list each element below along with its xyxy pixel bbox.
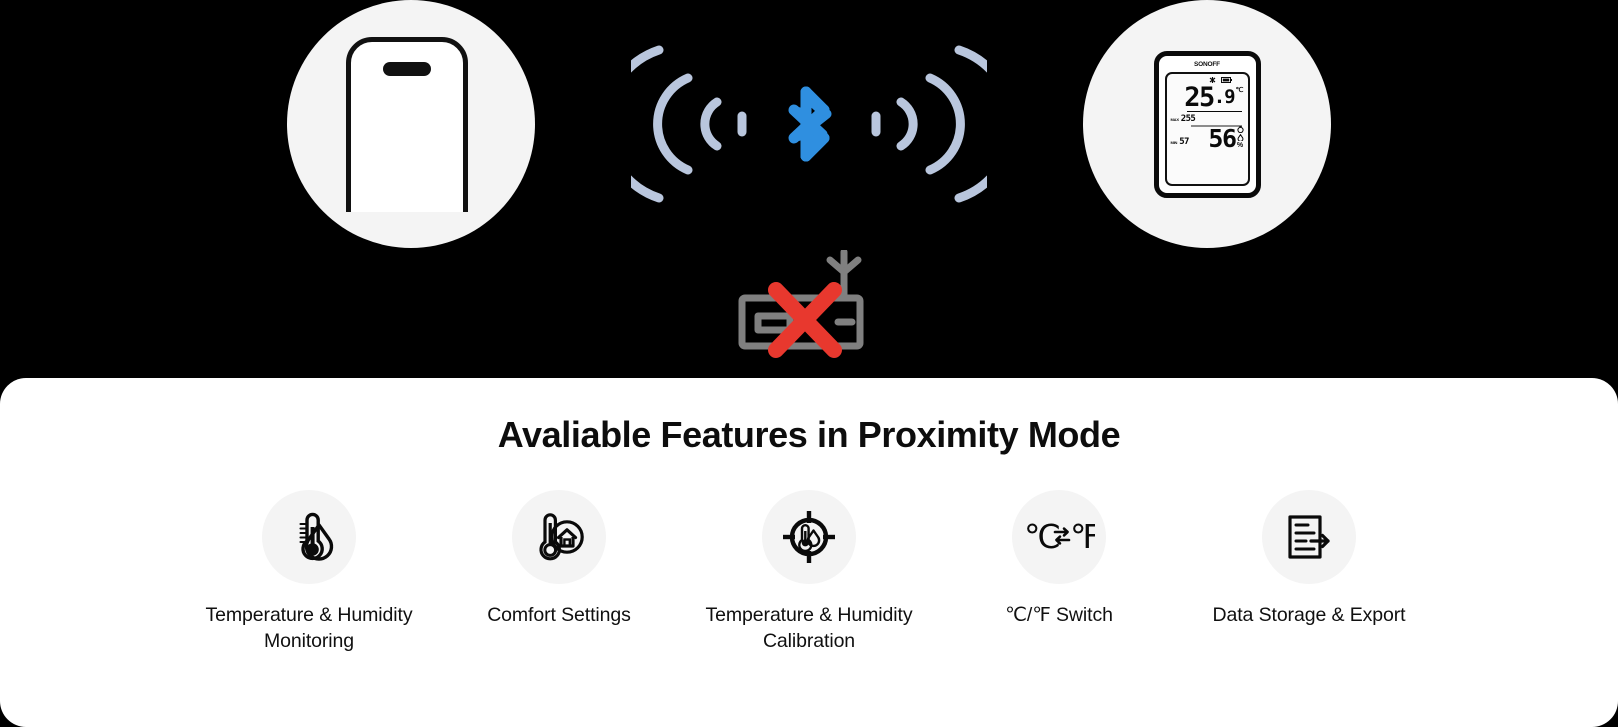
lcd-min-row: MIN 57 bbox=[1171, 136, 1189, 147]
bluetooth-icon bbox=[778, 76, 840, 172]
smartphone-icon bbox=[346, 37, 476, 212]
celsius-fahrenheit-switch-icon: ℃ ℉ bbox=[1012, 490, 1106, 584]
device-plate: SONOFF bbox=[1083, 0, 1331, 248]
document-export-icon bbox=[1262, 490, 1356, 584]
device-lcd-screen: 25 .9 ℃ MAX 255 MIN bbox=[1165, 72, 1250, 186]
lcd-humidity-block: MIN 57 56 bbox=[1171, 126, 1244, 150]
feature-item-data-storage-export[interactable]: Data Storage & Export bbox=[1184, 490, 1434, 628]
thermometer-home-icon bbox=[512, 490, 606, 584]
lcd-temperature-value: 25 bbox=[1184, 85, 1214, 110]
lcd-temperature-row: 25 .9 ℃ bbox=[1171, 85, 1244, 110]
lcd-min-value: 57 bbox=[1179, 138, 1189, 147]
feature-label: Temperature & Humidity Calibration bbox=[694, 602, 924, 654]
lcd-humidity-unit: % bbox=[1237, 142, 1243, 149]
lcd-max-value: 255 bbox=[1181, 115, 1195, 124]
features-card: Avaliable Features in Proximity Mode bbox=[0, 378, 1618, 727]
droplet-icon bbox=[1237, 134, 1244, 141]
feature-item-temperature-humidity-monitoring[interactable]: Temperature & Humidity Monitoring bbox=[184, 490, 434, 654]
feature-item-comfort-settings[interactable]: Comfort Settings bbox=[434, 490, 684, 628]
feature-list: Temperature & Humidity Monitoring Comfo bbox=[0, 490, 1618, 654]
lcd-temperature-unit: ℃ bbox=[1236, 86, 1244, 94]
lcd-humidity-value: 56 bbox=[1208, 127, 1235, 150]
feature-label: Temperature & Humidity Monitoring bbox=[194, 602, 424, 654]
feature-item-celsius-fahrenheit-switch[interactable]: ℃ ℉ ℃/℉ Switch bbox=[934, 490, 1184, 628]
lcd-humidity-side-icons: % bbox=[1237, 126, 1244, 149]
phone-dynamic-island-icon bbox=[383, 62, 431, 76]
phone-plate bbox=[287, 0, 535, 248]
signal-waves-left-icon bbox=[631, 36, 761, 212]
feature-label: Data Storage & Export bbox=[1212, 602, 1405, 628]
crosshair-thermometer-droplet-icon bbox=[762, 490, 856, 584]
router-icon bbox=[734, 250, 884, 365]
bluetooth-link-group bbox=[631, 34, 987, 214]
hero-section: SONOFF bbox=[0, 0, 1618, 390]
thermometer-droplet-icon bbox=[262, 490, 356, 584]
feature-label: ℃/℉ Switch bbox=[1005, 602, 1113, 628]
router-disabled-group bbox=[734, 250, 884, 365]
battery-icon bbox=[1221, 77, 1232, 83]
svg-text:℃: ℃ bbox=[1024, 518, 1061, 555]
device-brand-label: SONOFF bbox=[1162, 59, 1253, 71]
feature-label: Comfort Settings bbox=[487, 602, 631, 628]
hero-connection-row: SONOFF bbox=[0, 0, 1618, 248]
lcd-temperature-decimal: .9 bbox=[1214, 85, 1235, 110]
phone-body bbox=[346, 37, 468, 212]
lcd-min-label: MIN bbox=[1171, 139, 1178, 147]
lcd-max-label: MAX bbox=[1171, 116, 1179, 124]
page-title: Avaliable Features in Proximity Mode bbox=[0, 378, 1618, 456]
comfort-face-icon bbox=[1237, 126, 1244, 133]
page-root: SONOFF bbox=[0, 0, 1618, 727]
sonoff-thermo-hygrometer: SONOFF bbox=[1154, 51, 1261, 198]
signal-waves-right-icon bbox=[857, 36, 987, 212]
lcd-max-row: MAX 255 bbox=[1171, 113, 1244, 124]
feature-item-temperature-humidity-calibration[interactable]: Temperature & Humidity Calibration bbox=[684, 490, 934, 654]
svg-text:℉: ℉ bbox=[1070, 518, 1095, 555]
